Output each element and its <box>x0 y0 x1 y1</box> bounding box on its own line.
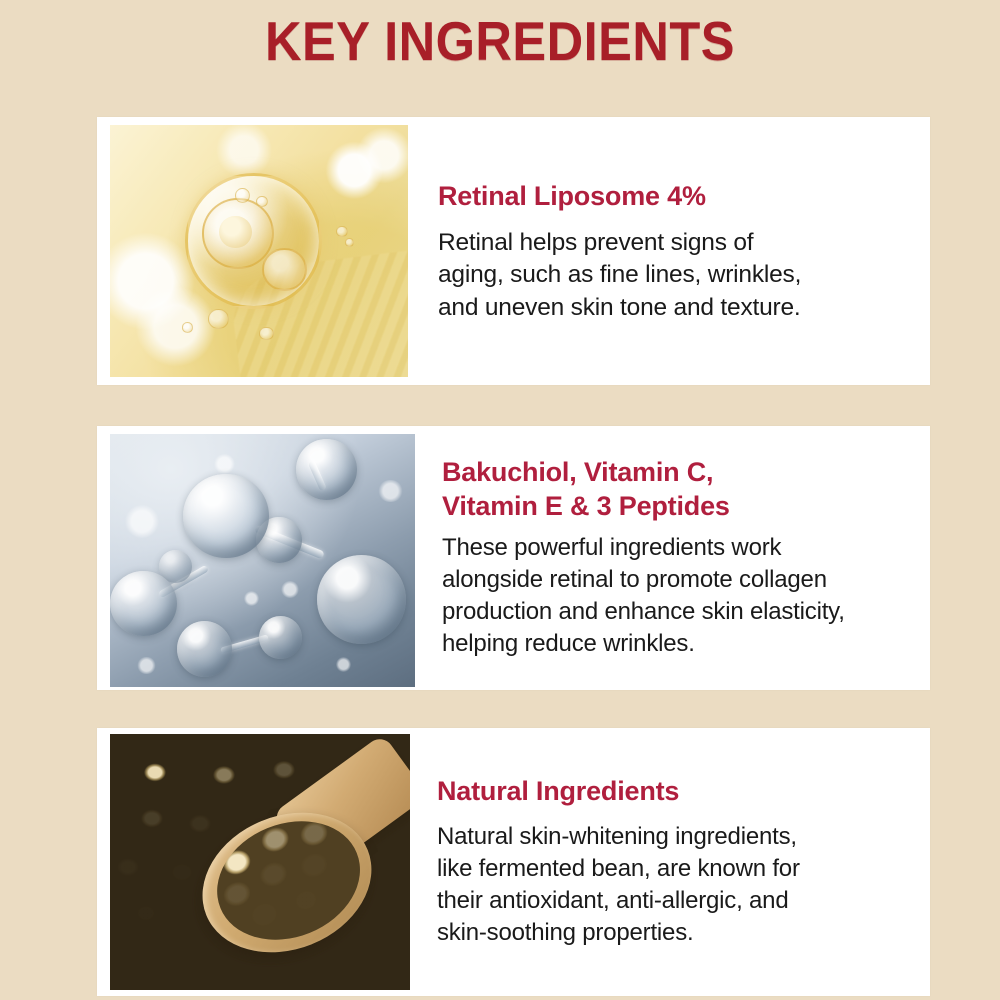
card-heading: Retinal Liposome 4% <box>438 180 910 214</box>
card-description: These powerful ingredients work alongsid… <box>442 532 910 660</box>
soybeans-wooden-spoon-image <box>110 734 410 990</box>
bokeh-light-shape <box>125 505 159 538</box>
molecule-artwork <box>110 434 415 687</box>
molecular-structure-spheres-image <box>110 434 415 687</box>
molecule-sphere-shape <box>317 555 405 644</box>
card-body: Retinal Liposome 4% Retinal helps preven… <box>408 117 930 385</box>
droplet-shape <box>208 309 229 329</box>
card-body: Natural Ingredients Natural skin-whiteni… <box>410 728 930 996</box>
card-description: Retinal helps prevent signs of aging, su… <box>438 227 910 325</box>
bokeh-light-shape <box>336 657 351 672</box>
ingredient-card: Bakuchiol, Vitamin C, Vitamin E & 3 Pept… <box>97 426 930 690</box>
molecule-sphere-shape <box>259 616 302 659</box>
card-body: Bakuchiol, Vitamin C, Vitamin E & 3 Pept… <box>415 426 930 690</box>
bubble-core-shape <box>219 216 252 249</box>
soybean-artwork <box>110 734 410 990</box>
ingredient-cards-list: Retinal Liposome 4% Retinal helps preven… <box>97 117 930 996</box>
card-heading: Natural Ingredients <box>437 775 910 809</box>
ingredient-card: Retinal Liposome 4% Retinal helps preven… <box>97 117 930 385</box>
droplet-shape <box>336 226 348 237</box>
card-heading: Bakuchiol, Vitamin C, Vitamin E & 3 Pept… <box>442 456 910 524</box>
molecule-sphere-shape <box>177 621 232 677</box>
molecule-sphere-shape <box>296 439 357 500</box>
liposome-artwork <box>110 125 408 377</box>
droplet-shape <box>256 196 268 207</box>
page-title: KEY INGREDIENTS <box>40 0 960 69</box>
golden-liposome-bubbles-image <box>110 125 408 377</box>
bokeh-light-shape <box>244 591 259 606</box>
bokeh-light-shape <box>137 657 155 675</box>
satellite-bubble-shape <box>262 248 307 291</box>
card-description: Natural skin-whitening ingredients, like… <box>437 821 910 949</box>
molecule-sphere-shape <box>183 474 268 557</box>
droplet-shape <box>182 322 194 333</box>
ingredient-card: Natural Ingredients Natural skin-whiteni… <box>97 728 930 996</box>
bokeh-light-shape <box>281 581 299 599</box>
bokeh-light-shape <box>214 454 235 474</box>
molecule-sphere-shape <box>110 571 177 637</box>
bokeh-light-shape <box>378 480 402 503</box>
droplet-shape <box>345 238 354 247</box>
